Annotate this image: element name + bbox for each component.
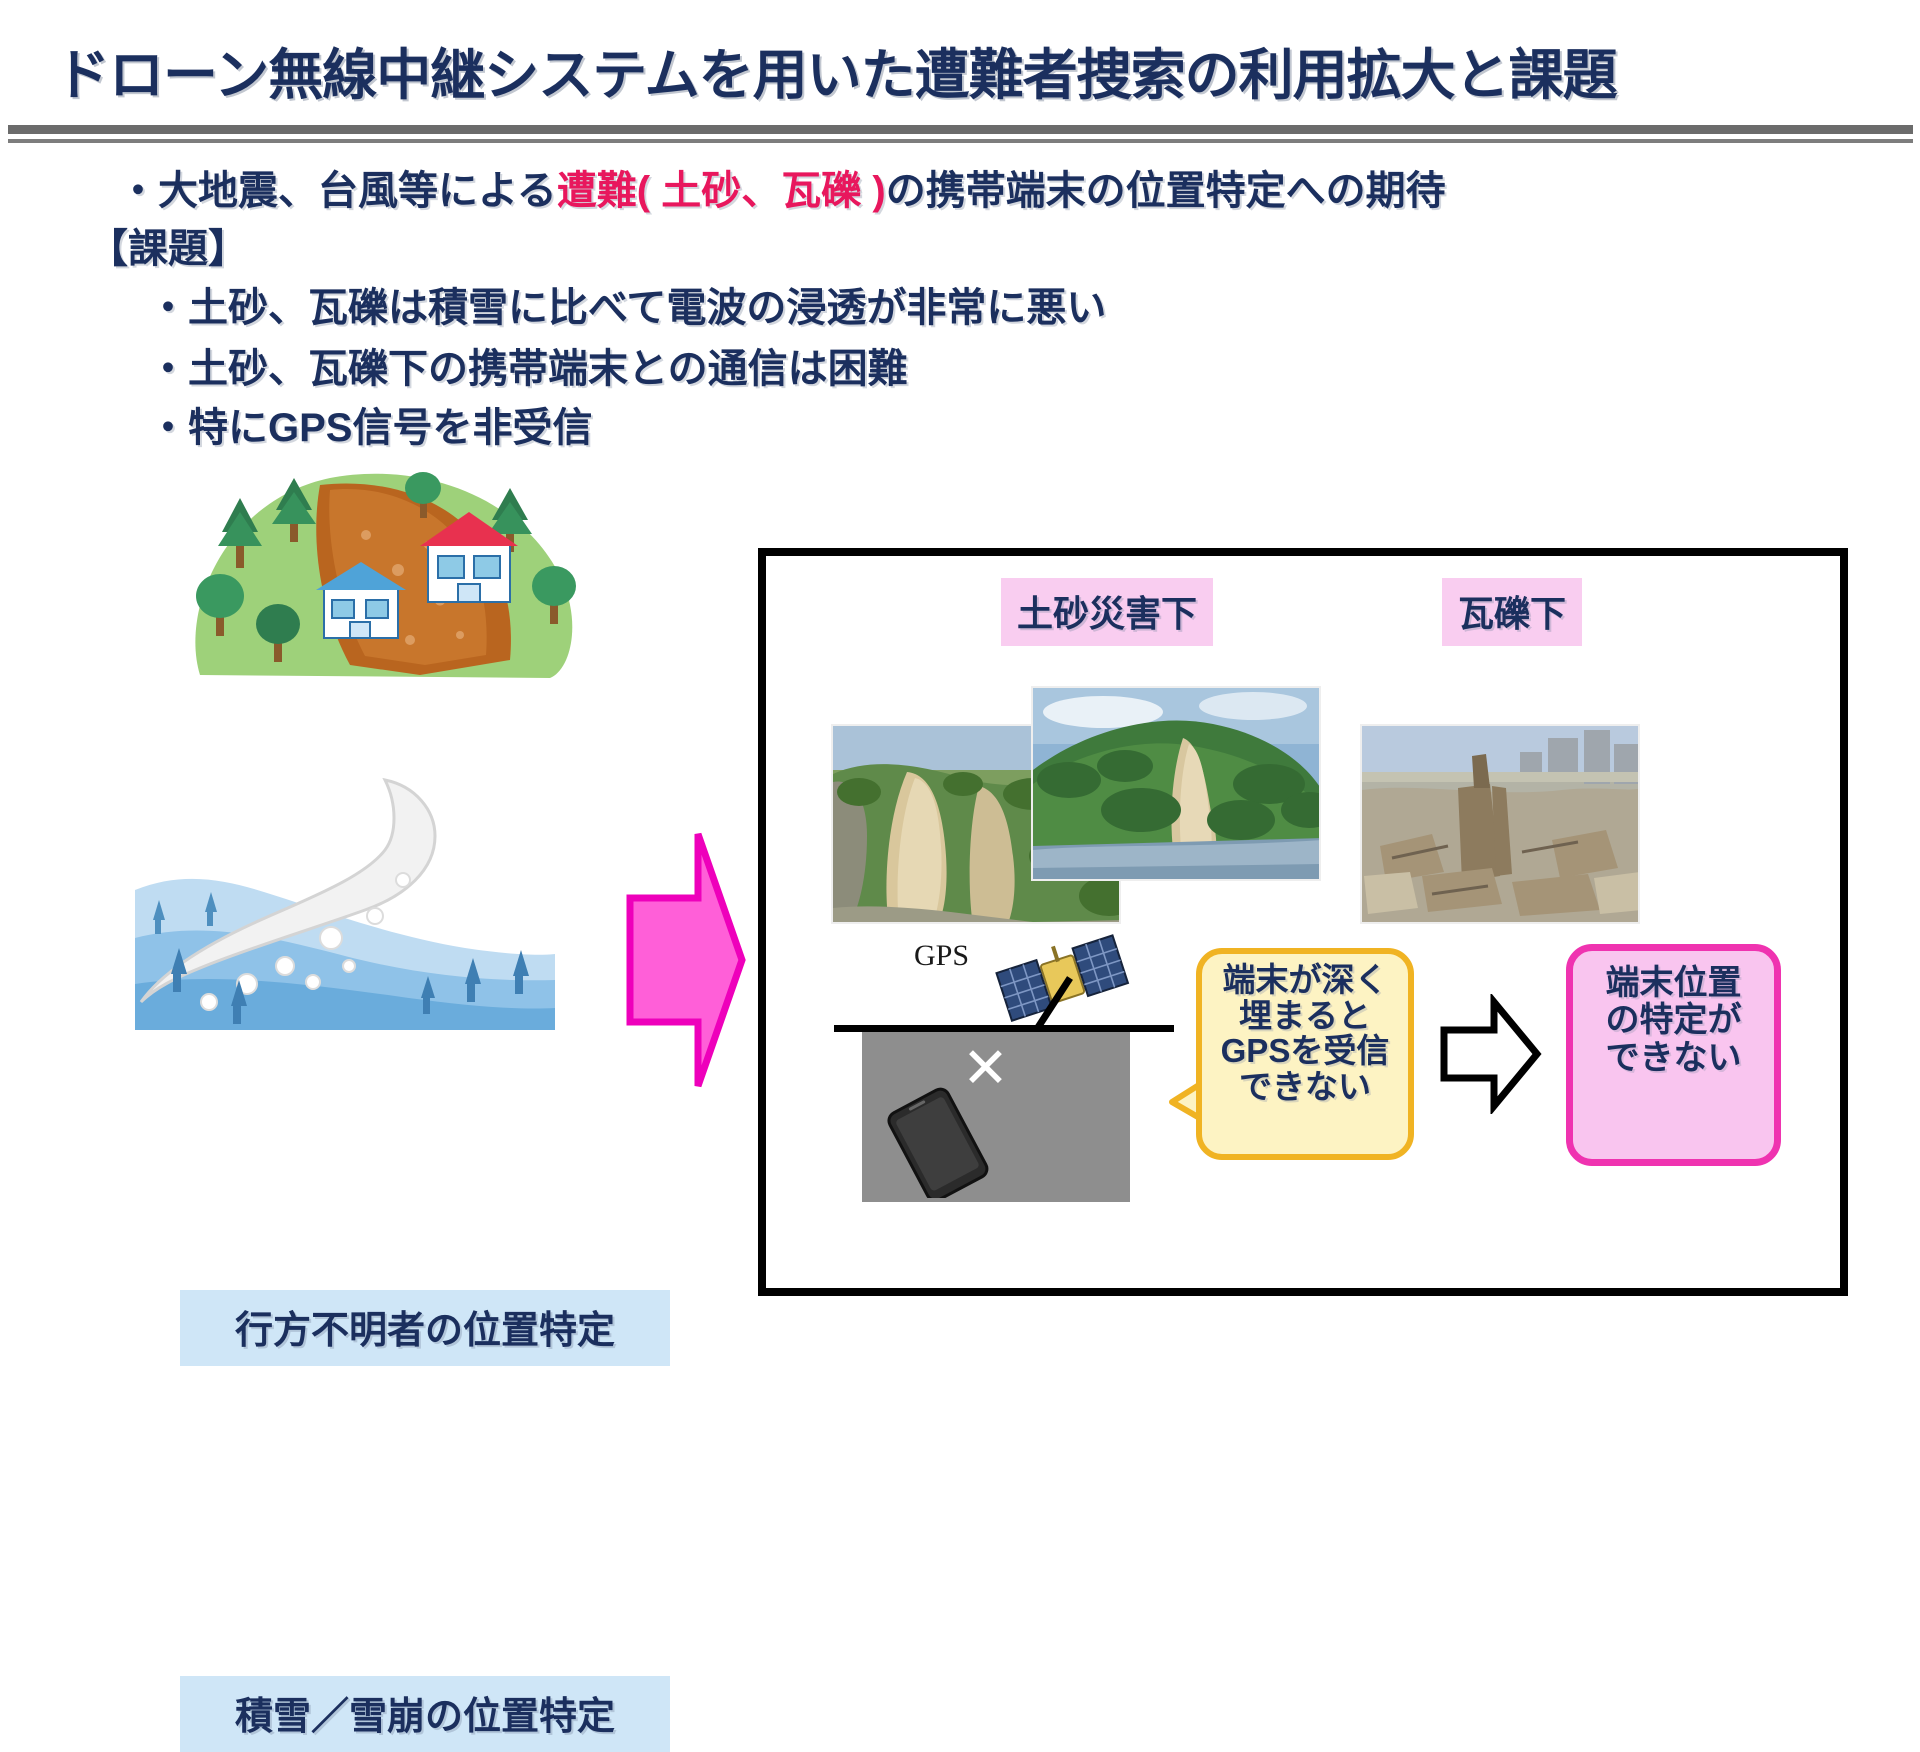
label-missing-person-location: 行方不明者の位置特定 bbox=[180, 1290, 670, 1366]
bullet-1-pre: ・大地震、台風等による bbox=[118, 169, 557, 213]
bullet-line-1: ・大地震、台風等による遭難( 土砂、瓦礫 )の携帯端末の位置特定への期待 bbox=[118, 158, 1446, 216]
ground-surface-line bbox=[834, 1025, 1174, 1032]
magenta-right-arrow bbox=[620, 820, 750, 1100]
diagram-label-rubble: 瓦礫下 bbox=[1442, 578, 1582, 646]
result-line-3: できない bbox=[1573, 1040, 1774, 1077]
scenario-diagram-frame: 土砂災害下 瓦礫下 bbox=[758, 548, 1848, 1296]
slide-canvas: ドローン無線中継システムを用いた遭難者捜索の利用拡大と課題 ・大地震、台風等によ… bbox=[0, 0, 1920, 1358]
result-line-1: 端末位置 bbox=[1573, 965, 1774, 1002]
bullet-1-post: の携帯端末の位置特定への期待 bbox=[886, 169, 1446, 213]
diagram-label-landslide: 土砂災害下 bbox=[1001, 578, 1213, 646]
snow-avalanche-illustration bbox=[135, 770, 555, 1030]
balloon-line-2: 埋まると bbox=[1202, 998, 1408, 1034]
title-divider bbox=[8, 125, 1913, 143]
label-snow-avalanche-location: 積雪／雪崩の位置特定 bbox=[180, 1676, 670, 1752]
gps-label: GPS bbox=[914, 939, 969, 973]
bullet-1-highlight: 遭難( 土砂、瓦礫 ) bbox=[557, 169, 886, 213]
bullet-line-2: ・土砂、瓦礫は積雪に比べて電波の浸透が非常に悪い bbox=[148, 275, 1106, 333]
bullet-line-3: ・土砂、瓦礫下の携帯端末との通信は困難 bbox=[148, 336, 908, 394]
section-heading-kadai: 【課題】 bbox=[88, 216, 248, 274]
divider-thick-rule bbox=[8, 125, 1913, 134]
landslide-mountain-photo bbox=[1031, 686, 1321, 881]
divider-thin-rule bbox=[8, 139, 1913, 143]
bullet-line-4: ・特にGPS信号を非受信 bbox=[148, 395, 592, 453]
landslide-house-illustration bbox=[170, 460, 590, 690]
page-title: ドローン無線中継システムを用いた遭難者捜索の利用拡大と課題 bbox=[55, 30, 1865, 110]
result-cannot-locate-box: 端末位置 の特定が できない bbox=[1566, 944, 1781, 1166]
balloon-line-1: 端末が深く bbox=[1202, 962, 1408, 998]
buried-smartphone-icon bbox=[876, 1086, 1006, 1198]
balloon-line-3: GPSを受信 bbox=[1202, 1033, 1408, 1069]
left-illustration-column: 行方不明者の位置特定 積雪／雪崩の位置特定 bbox=[80, 460, 600, 1060]
balloon-line-4: できない bbox=[1202, 1069, 1408, 1105]
black-outline-right-arrow bbox=[1438, 994, 1543, 1114]
gps-unavailable-balloon: 端末が深く 埋まると GPSを受信 できない bbox=[1196, 948, 1414, 1160]
rubble-debris-photo bbox=[1360, 724, 1640, 924]
result-line-2: の特定が bbox=[1573, 1002, 1774, 1039]
